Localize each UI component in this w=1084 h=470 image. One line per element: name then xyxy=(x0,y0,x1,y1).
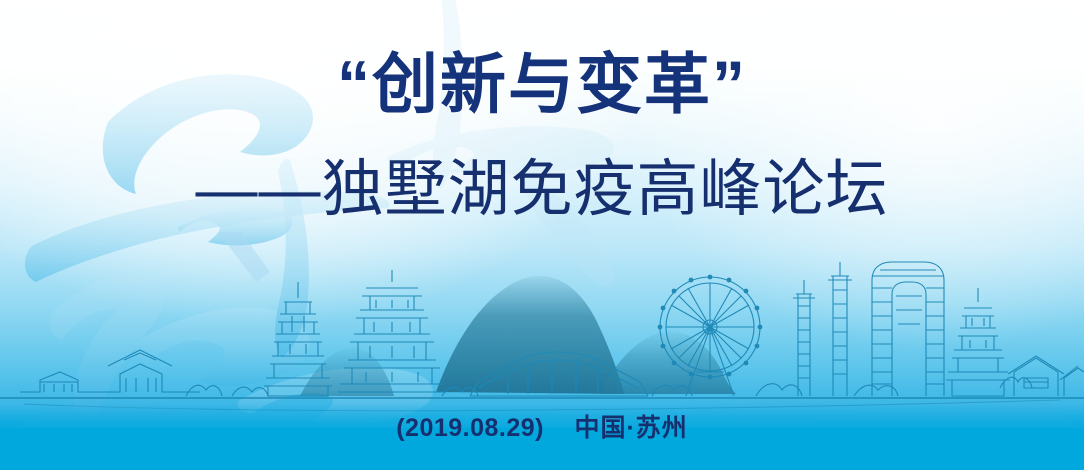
event-meta: (2019.08.29) 中国·苏州 xyxy=(0,408,1084,444)
page-subtitle: ——独墅湖免疫高峰论坛 xyxy=(0,156,1084,224)
event-date: (2019.08.29) xyxy=(396,414,544,442)
event-location: 中国·苏州 xyxy=(574,414,687,442)
banner-text-stack: “创新与变革” ——独墅湖免疫高峰论坛 (2019.08.29) 中国·苏州 xyxy=(0,0,1084,470)
page-title: “创新与变革” xyxy=(0,50,1084,120)
event-banner: “创新与变革” ——独墅湖免疫高峰论坛 (2019.08.29) 中国·苏州 xyxy=(0,0,1084,470)
